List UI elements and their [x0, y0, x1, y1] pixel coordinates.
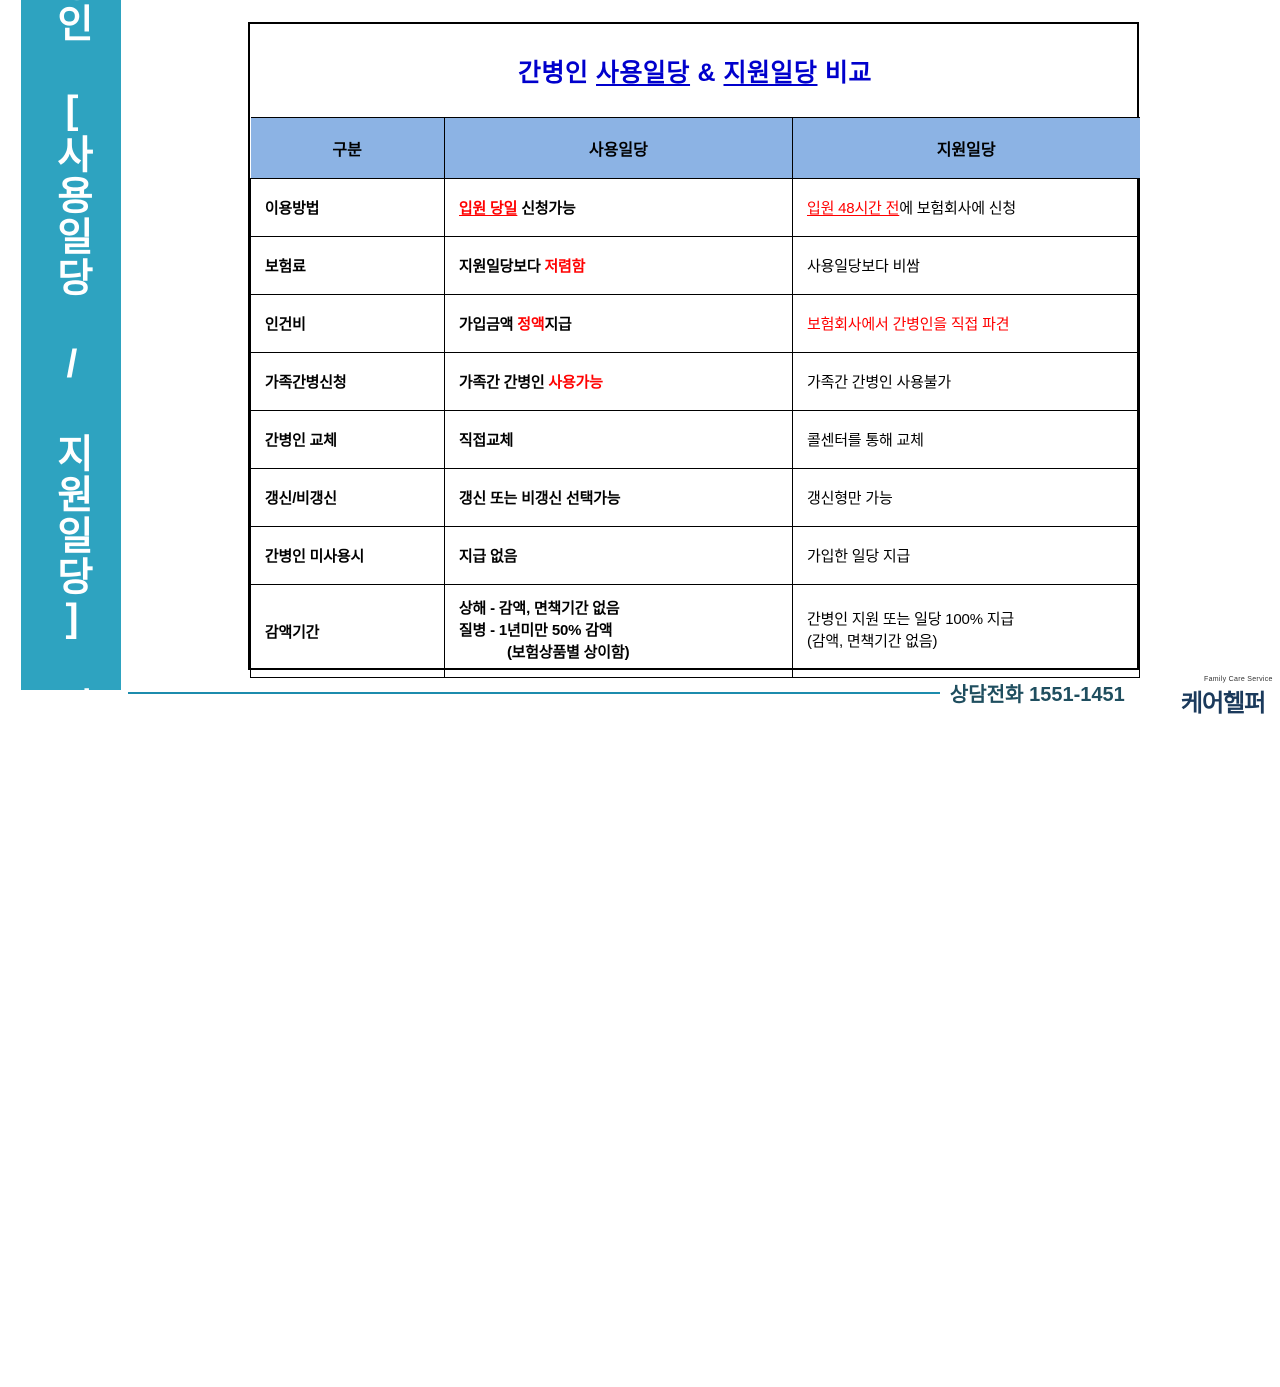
row-label: 간병인 미사용시	[251, 527, 445, 585]
segment-highlight: 사용가능	[549, 374, 603, 391]
title-part-support-underlined: 지원일당	[723, 59, 817, 87]
segment-text: 지급 없음	[459, 548, 517, 565]
cell-line: 간병인 지원 또는 일당 100% 지급	[807, 609, 1125, 631]
segment-text: 가입금액	[459, 316, 517, 333]
table-title-row: 간병인 사용일당 & 지원일당 비교	[251, 24, 1140, 118]
table-title-cell: 간병인 사용일당 & 지원일당 비교	[251, 24, 1140, 118]
cell-support-allowance: 갱신형만 가능	[793, 469, 1140, 527]
footer-divider-line	[128, 692, 940, 694]
segment-highlight: 정액	[517, 316, 544, 333]
segment-text: 신청가능	[517, 200, 575, 217]
column-header-support-allowance: 지원일당	[793, 118, 1140, 179]
cell-support-allowance: 가입한 일당 지급	[793, 527, 1140, 585]
cell-support-allowance: 사용일당보다 비쌈	[793, 237, 1140, 295]
segment-text: 가족간 간병인 사용불가	[807, 374, 951, 391]
segment-text: 갱신 또는 비갱신 선택가능	[459, 490, 621, 507]
segment-text: 가족간 간병인	[459, 374, 549, 391]
row-label: 보험료	[251, 237, 445, 295]
table-row: 간병인 교체 직접교체 콜센터를 통해 교체	[251, 411, 1140, 469]
cell-use-allowance: 갱신 또는 비갱신 선택가능	[445, 469, 793, 527]
table-row: 이용방법 입원 당일 신청가능 입원 48시간 전에 보험회사에 신청	[251, 179, 1140, 237]
cell-support-allowance: 입원 48시간 전에 보험회사에 신청	[793, 179, 1140, 237]
segment-text: 지원일당보다	[459, 258, 545, 275]
cell-line: 질병 - 1년미만 50% 감액	[459, 620, 778, 642]
consultation-phone: 상담전화 1551-1451	[950, 678, 1125, 707]
row-label: 인건비	[251, 295, 445, 353]
row-label: 감액기간	[251, 585, 445, 678]
title-part-amp: &	[690, 59, 723, 87]
cell-use-allowance: 상해 - 감액, 면책기간 없음 질병 - 1년미만 50% 감액 (보험상품별…	[445, 585, 793, 678]
cell-line: 상해 - 감액, 면책기간 없음	[459, 598, 778, 620]
column-header-category: 구분	[251, 118, 445, 179]
brand-tagline: Family Care Service	[1204, 676, 1273, 683]
segment-text: 사용일당보다 비쌈	[807, 258, 920, 275]
segment-text: 지급	[545, 316, 572, 333]
table-row: 가족간병신청 가족간 간병인 사용가능 가족간 간병인 사용불가	[251, 353, 1140, 411]
row-label: 갱신/비갱신	[251, 469, 445, 527]
segment-text: 콜센터를 통해 교체	[807, 432, 924, 449]
segment-highlight: 저렴함	[545, 258, 586, 275]
cell-use-allowance: 가입금액 정액지급	[445, 295, 793, 353]
table-row: 감액기간 상해 - 감액, 면책기간 없음 질병 - 1년미만 50% 감액 (…	[251, 585, 1140, 678]
cell-use-allowance: 지원일당보다 저렴함	[445, 237, 793, 295]
comparison-table: 간병인 사용일당 & 지원일당 비교 구분 사용일당 지원일당 이용방법 입원 …	[250, 24, 1140, 678]
cell-use-allowance: 가족간 간병인 사용가능	[445, 353, 793, 411]
title-part-use-underlined: 사용일당	[596, 59, 690, 87]
table-row: 인건비 가입금액 정액지급 보험회사에서 간병인을 직접 파견	[251, 295, 1140, 353]
title-part-5: 비교	[818, 59, 872, 87]
segment-text: 에 보험회사에 신청	[899, 200, 1016, 217]
row-label: 간병인 교체	[251, 411, 445, 469]
page-title: 간병인 사용일당 & 지원일당 비교	[518, 59, 872, 87]
side-banner: 간병인 [사용일당 / 지원일당] 비교	[21, 0, 121, 690]
cell-support-allowance: 보험회사에서 간병인을 직접 파견	[793, 295, 1140, 353]
cell-use-allowance: 직접교체	[445, 411, 793, 469]
cell-line: (보험상품별 상이함)	[459, 642, 778, 664]
row-label: 가족간병신청	[251, 353, 445, 411]
segment-text: 갱신형만 가능	[807, 490, 893, 507]
cell-use-allowance: 지급 없음	[445, 527, 793, 585]
table-row: 보험료 지원일당보다 저렴함 사용일당보다 비쌈	[251, 237, 1140, 295]
segment-highlight: 보험회사에서 간병인을 직접 파견	[807, 316, 1009, 333]
segment-highlight: 입원 48시간 전	[807, 200, 899, 217]
column-header-use-allowance: 사용일당	[445, 118, 793, 179]
cell-support-allowance: 콜센터를 통해 교체	[793, 411, 1140, 469]
cell-support-allowance: 가족간 간병인 사용불가	[793, 353, 1140, 411]
cell-use-allowance: 입원 당일 신청가능	[445, 179, 793, 237]
segment-highlight: 입원 당일	[459, 200, 517, 217]
table-row: 갱신/비갱신 갱신 또는 비갱신 선택가능 갱신형만 가능	[251, 469, 1140, 527]
table-header-row: 구분 사용일당 지원일당	[251, 118, 1140, 179]
segment-text: 직접교체	[459, 432, 513, 449]
table-row: 간병인 미사용시 지급 없음 가입한 일당 지급	[251, 527, 1140, 585]
comparison-table-panel: 간병인 사용일당 & 지원일당 비교 구분 사용일당 지원일당 이용방법 입원 …	[248, 22, 1139, 670]
cell-line: (감액, 면책기간 없음)	[807, 631, 1125, 653]
side-banner-title: 간병인 [사용일당 / 지원일당] 비교	[51, 0, 92, 769]
row-label: 이용방법	[251, 179, 445, 237]
segment-text: 가입한 일당 지급	[807, 548, 910, 565]
brand-name: 케어헬퍼	[1181, 683, 1265, 718]
cell-support-allowance: 간병인 지원 또는 일당 100% 지급 (감액, 면책기간 없음)	[793, 585, 1140, 678]
title-part-1: 간병인	[518, 59, 596, 87]
